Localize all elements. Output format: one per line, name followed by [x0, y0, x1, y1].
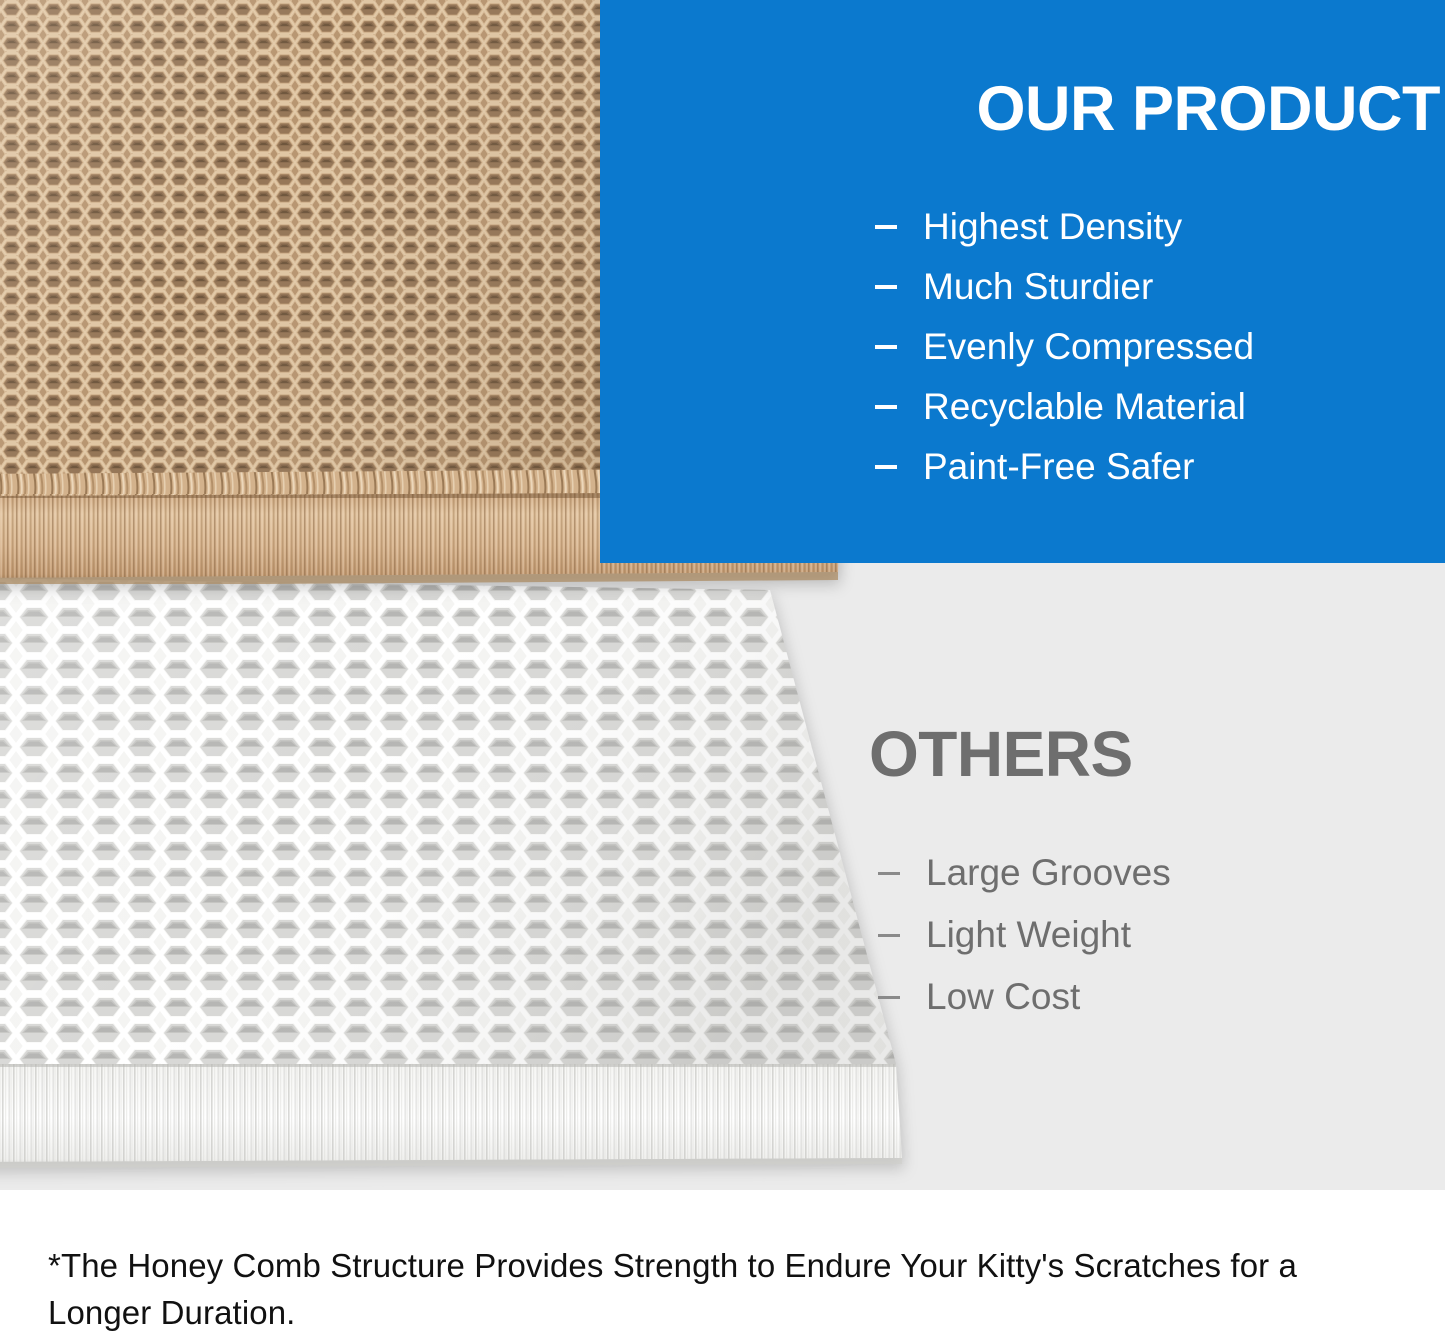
dash-bullet-icon: [875, 285, 897, 289]
dash-bullet-icon: [878, 996, 900, 999]
dash-bullet-icon: [878, 872, 900, 875]
feature-label: Large Grooves: [926, 842, 1171, 904]
list-item: Recyclable Material: [875, 377, 1254, 437]
dash-bullet-icon: [875, 405, 897, 409]
feature-label: Light Weight: [926, 904, 1131, 966]
feature-label: Much Sturdier: [923, 257, 1153, 317]
list-item: Low Cost: [878, 966, 1171, 1028]
dash-bullet-icon: [875, 465, 897, 469]
our-product-feature-list: Highest Density Much Sturdier Evenly Com…: [875, 197, 1254, 497]
list-item: Highest Density: [875, 197, 1254, 257]
list-item: Large Grooves: [878, 842, 1171, 904]
dash-bullet-icon: [875, 225, 897, 229]
list-item: Evenly Compressed: [875, 317, 1254, 377]
feature-label: Recyclable Material: [923, 377, 1246, 437]
feature-label: Highest Density: [923, 197, 1182, 257]
comparison-stage: OUR PRODUCT Highest Density Much Sturdie…: [0, 0, 1445, 1190]
feature-label: Low Cost: [926, 966, 1080, 1028]
others-title: OTHERS: [869, 722, 1133, 786]
our-product-title: OUR PRODUCT: [840, 78, 1440, 141]
list-item: Much Sturdier: [875, 257, 1254, 317]
list-item: Paint-Free Safer: [875, 437, 1254, 497]
footer-note: *The Honey Comb Structure Provides Stren…: [48, 1243, 1368, 1337]
dash-bullet-icon: [875, 345, 897, 349]
dash-bullet-icon: [878, 934, 900, 937]
list-item: Light Weight: [878, 904, 1171, 966]
feature-label: Evenly Compressed: [923, 317, 1254, 377]
product-comparison-image: OUR PRODUCT Highest Density Much Sturdie…: [0, 0, 1445, 1341]
feature-label: Paint-Free Safer: [923, 437, 1194, 497]
others-feature-list: Large Grooves Light Weight Low Cost: [878, 842, 1171, 1028]
our-product-panel: OUR PRODUCT Highest Density Much Sturdie…: [600, 0, 1445, 563]
others-product-photo: [0, 578, 920, 1178]
